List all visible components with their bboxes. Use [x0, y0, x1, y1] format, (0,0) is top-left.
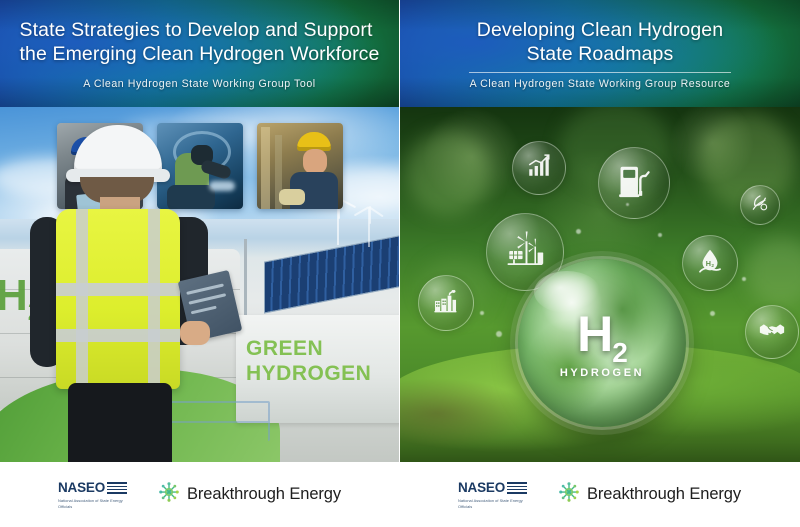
- globe-hydrogen-word: HYDROGEN: [518, 368, 686, 380]
- right-title-divider: [469, 72, 731, 73]
- svg-text:H: H: [626, 179, 633, 190]
- naseo-tagline: National Association of State Energy Off…: [458, 498, 532, 509]
- naseo-logo[interactable]: NASEO National Association of State Ener…: [58, 480, 136, 509]
- bokeh-light: [406, 131, 490, 215]
- reflective-stripe: [76, 209, 88, 389]
- handshake-icon: [758, 316, 786, 349]
- pipework: [261, 127, 270, 209]
- sparkle-dot: [710, 311, 715, 316]
- bar-chart-growth-icon: [526, 153, 552, 184]
- right-cover-footer: NASEO National Association of State Ener…: [400, 462, 800, 527]
- right-cover[interactable]: Developing Clean Hydrogen State Roadmaps…: [400, 0, 800, 527]
- bubble-recycle-leaf: [740, 185, 780, 225]
- bubble-industrial-plant: [418, 275, 474, 331]
- hi-vis-safety-vest: [56, 209, 180, 389]
- wind-solar-icon: [504, 229, 546, 276]
- thumbnail-technician-yellow-hardhat: [257, 123, 343, 209]
- naseo-logo[interactable]: NASEO National Association of State Ener…: [458, 480, 536, 509]
- bubble-bar-chart: [512, 141, 566, 195]
- left-cover-hero-image: H2 GREEN HYDROGEN: [0, 107, 399, 462]
- breakthrough-energy-wordmark: Breakthrough Energy: [587, 485, 741, 504]
- svg-text:2: 2: [633, 184, 637, 191]
- worker-face: [303, 149, 327, 174]
- right-cover-header: Developing Clean Hydrogen State Roadmaps…: [400, 0, 800, 107]
- industrial-plant-icon: [432, 287, 460, 320]
- breakthrough-energy-logo[interactable]: Breakthrough Energy: [158, 481, 341, 508]
- worker-legs: [68, 383, 172, 462]
- sparkle-dot: [576, 229, 581, 234]
- reflective-stripe: [56, 329, 180, 342]
- hydrogen-water-drop-icon: H 2: [696, 247, 724, 280]
- left-cover-footer: NASEO National Association of State Ener…: [0, 462, 399, 527]
- bubble-hydrogen-water-drop: H 2: [682, 235, 738, 291]
- green-hydrogen-label: GREEN HYDROGEN: [246, 337, 371, 387]
- cover-pair-stage: State Strategies to Develop and Support …: [0, 0, 800, 527]
- svg-text:2: 2: [711, 263, 714, 268]
- naseo-tagline: National Association of State Energy Off…: [58, 498, 132, 509]
- right-cover-title: Developing Clean Hydrogen State Roadmaps: [477, 19, 723, 67]
- hydrogen-earth-globe: H2 HYDROGEN: [518, 259, 686, 427]
- light-pole: [244, 239, 247, 325]
- left-cover-header: State Strategies to Develop and Support …: [0, 0, 399, 107]
- worker-hand: [180, 321, 210, 345]
- molecule-starburst-icon: [558, 481, 580, 508]
- right-cover-hero-image: H 2: [400, 107, 800, 462]
- reflective-stripe: [56, 283, 180, 296]
- sparkle-dot: [480, 311, 484, 315]
- bubble-handshake: [745, 305, 799, 359]
- bubble-hydrogen-fuel-pump: H 2: [598, 147, 670, 219]
- reflective-stripe: [148, 209, 160, 389]
- bokeh-light: [746, 237, 800, 307]
- breakthrough-energy-logo[interactable]: Breakthrough Energy: [558, 481, 741, 508]
- right-cover-subtitle: A Clean Hydrogen State Working Group Res…: [470, 78, 731, 90]
- sparkle-dot: [742, 277, 746, 281]
- work-glove: [279, 189, 305, 205]
- naseo-bars-icon: [107, 481, 127, 493]
- document-line: [191, 306, 217, 315]
- globe-label: H2 HYDROGEN: [518, 311, 686, 380]
- hydrogen-fuel-pump-icon: H 2: [615, 162, 653, 205]
- molecule-starburst-icon: [158, 481, 180, 508]
- recycle-leaf-icon: [750, 193, 770, 218]
- naseo-wordmark: NASEO: [58, 480, 105, 495]
- left-cover-subtitle: A Clean Hydrogen State Working Group Too…: [83, 78, 315, 90]
- document-line: [188, 293, 226, 304]
- naseo-bars-icon: [507, 481, 527, 493]
- svg-text:H: H: [706, 258, 711, 267]
- globe-h2-symbol: H2: [518, 311, 686, 366]
- document-line: [186, 283, 224, 294]
- foreground-worker: [18, 125, 228, 462]
- left-cover-title: State Strategies to Develop and Support …: [20, 19, 380, 67]
- breakthrough-energy-wordmark: Breakthrough Energy: [187, 485, 341, 504]
- sparkle-dot: [496, 331, 502, 337]
- left-cover[interactable]: State Strategies to Develop and Support …: [0, 0, 400, 527]
- sparkle-dot: [658, 233, 662, 237]
- naseo-wordmark: NASEO: [458, 480, 505, 495]
